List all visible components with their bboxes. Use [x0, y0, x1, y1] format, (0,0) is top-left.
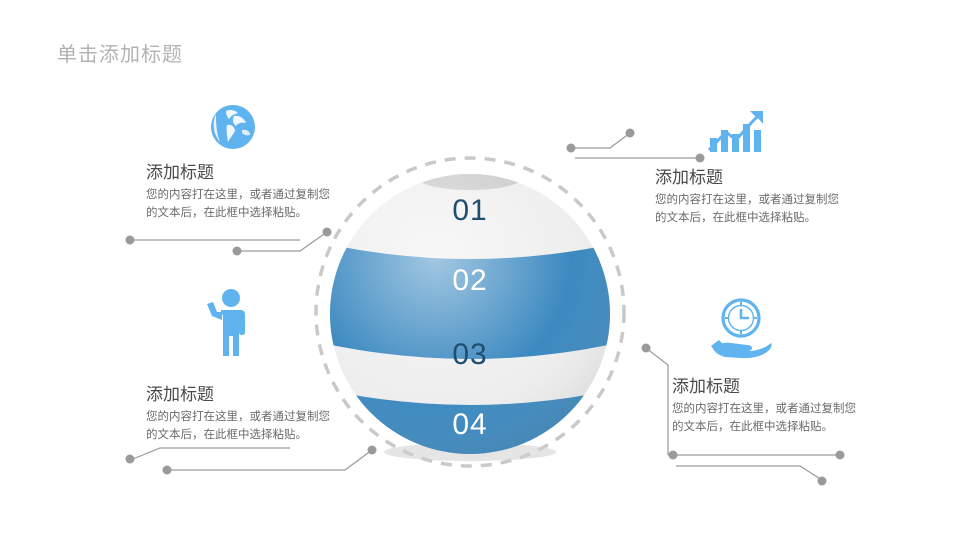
info-title: 添加标题 — [146, 158, 336, 183]
info-title: 添加标题 — [146, 380, 336, 405]
sphere-segment-number-01: 01 — [311, 194, 629, 228]
info-block-top-left[interactable]: 添加标题 您的内容打在这里，或者通过复制您的文本后，在此框中选择粘贴。 — [146, 158, 336, 223]
info-body: 您的内容打在这里，或者通过复制您的文本后，在此框中选择粘贴。 — [672, 401, 862, 437]
sphere-segment-number-03: 03 — [311, 338, 629, 372]
clock-on-hand-icon — [707, 297, 775, 364]
slide-canvas: 单击添加标题 — [0, 0, 960, 540]
info-block-bottom-left[interactable]: 添加标题 您的内容打在这里，或者通过复制您的文本后，在此框中选择粘贴。 — [146, 380, 336, 445]
info-body: 您的内容打在这里，或者通过复制您的文本后，在此框中选择粘贴。 — [146, 187, 336, 223]
info-title: 添加标题 — [655, 163, 845, 188]
globe-icon — [204, 102, 260, 159]
info-body: 您的内容打在这里，或者通过复制您的文本后，在此框中选择粘贴。 — [146, 409, 336, 445]
info-block-bottom-right[interactable]: 添加标题 您的内容打在这里，或者通过复制您的文本后，在此框中选择粘贴。 — [672, 372, 862, 437]
person-raising-hand-icon — [199, 288, 259, 363]
info-body: 您的内容打在这里，或者通过复制您的文本后，在此框中选择粘贴。 — [655, 192, 845, 228]
info-block-top-right[interactable]: 添加标题 您的内容打在这里，或者通过复制您的文本后，在此框中选择粘贴。 — [655, 163, 845, 228]
bar-chart-growth-icon — [706, 108, 768, 161]
info-title: 添加标题 — [672, 372, 862, 397]
sphere-segment-number-04: 04 — [311, 408, 629, 442]
page-title[interactable]: 单击添加标题 — [57, 38, 183, 67]
central-sphere[interactable]: 01 02 03 04 — [311, 152, 629, 472]
sphere-segment-number-02: 02 — [311, 264, 629, 298]
